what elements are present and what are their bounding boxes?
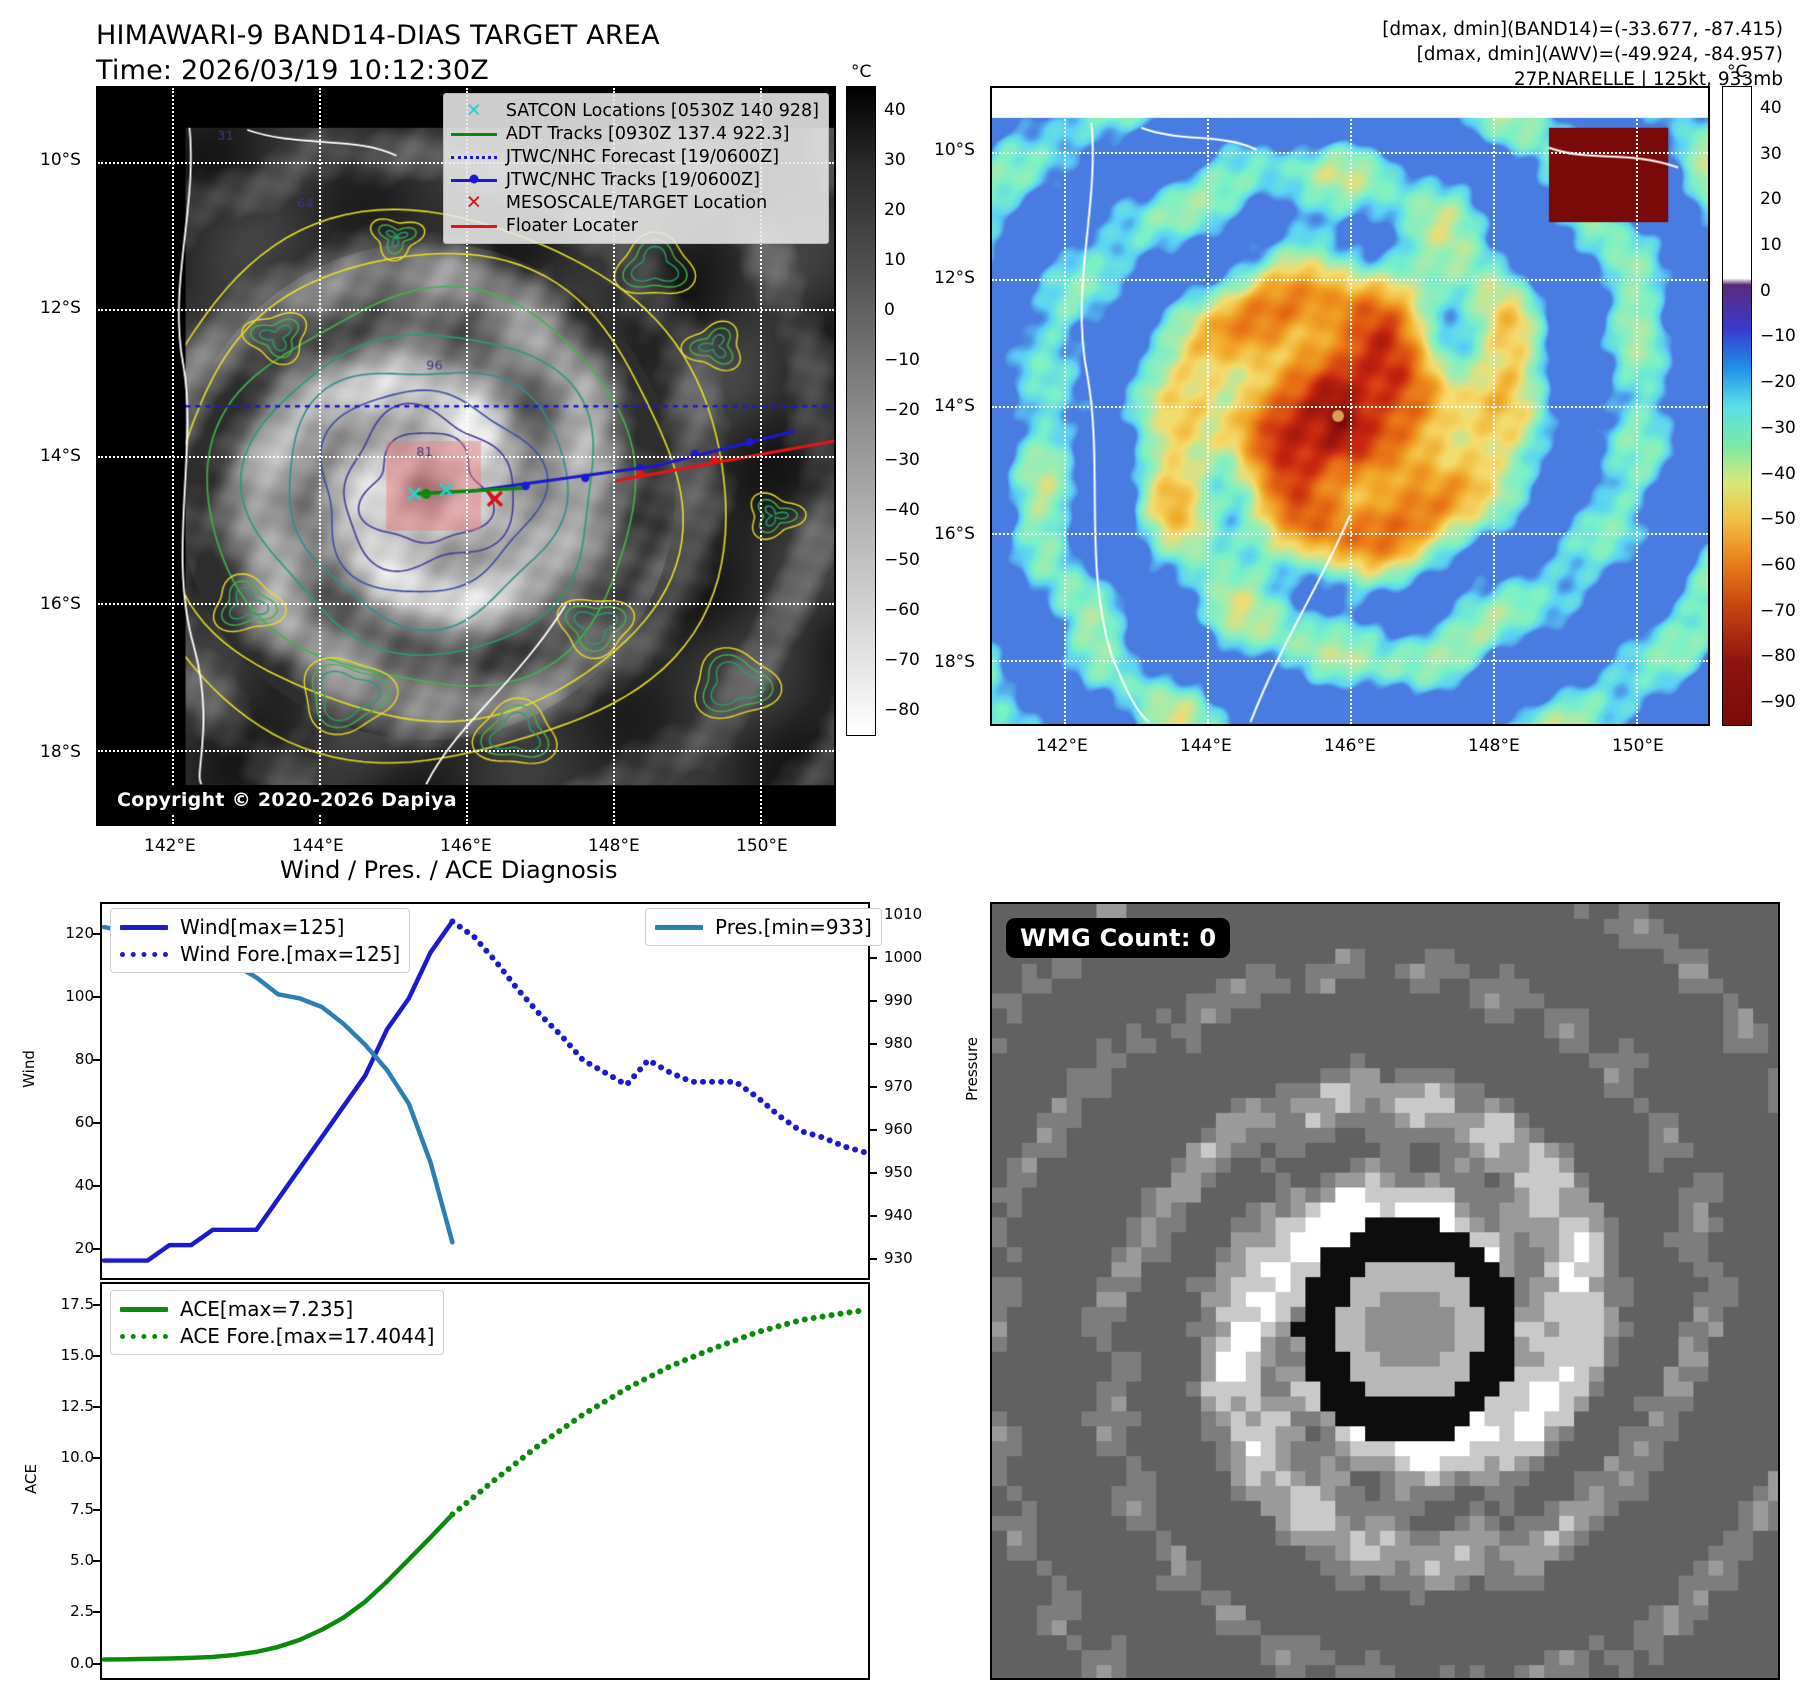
wind-tick-mark — [93, 1185, 102, 1187]
ace-tick-mark — [93, 1509, 102, 1511]
ace-tick-label: 10.0 — [48, 1448, 94, 1466]
pressure-tick-label: 990 — [884, 991, 913, 1009]
ace-legend-item: ACE Fore.[max=17.4044] — [118, 1322, 434, 1349]
wind-tick-label: 120 — [58, 924, 94, 942]
colorbar-tick-label: 0 — [1760, 281, 1771, 301]
colorbar-tick-label: −60 — [884, 600, 920, 620]
colorbar-tick-label: −30 — [884, 450, 920, 470]
colorbar-tick-label: −40 — [1760, 464, 1796, 484]
wind-legend-label: Wind[max=125] — [180, 915, 344, 939]
latitude-tick-label: 16°S — [40, 594, 81, 614]
colorbar-tick-label: −70 — [1760, 601, 1796, 621]
pressure-tick-mark — [868, 1258, 877, 1260]
wind-tick-label: 40 — [58, 1176, 94, 1194]
title-main: HIMAWARI-9 BAND14-DIAS TARGET AREA — [96, 18, 896, 53]
map-legend-label: Floater Locater — [506, 216, 638, 236]
dotted-line-marker-icon — [451, 156, 497, 159]
pressure-tick-mark — [868, 1000, 877, 1002]
copyright-text: Copyright © 2020-2026 Dapiya — [108, 785, 466, 815]
wmg-map[interactable]: WMG Count: 0 — [990, 902, 1780, 1680]
map-legend-label: SATCON Locations [0530Z 140 928] — [506, 101, 819, 121]
colorbar-tick-label: −80 — [884, 700, 920, 720]
map-legend-label: MESOSCALE/TARGET Location — [506, 193, 767, 213]
colorbar-tick-label: −70 — [884, 650, 920, 670]
colorbar-tick-label: −40 — [884, 500, 920, 520]
ace-tick-mark — [93, 1406, 102, 1408]
pressure-axis-label: Pressure — [963, 1037, 981, 1101]
ir-satellite-map[interactable]: Copyright © 2020-2026 Dapiya ✕SATCON Loc… — [96, 86, 836, 826]
pressure-tick-label: 1000 — [884, 948, 922, 966]
ir-colorbar — [846, 86, 876, 736]
latitude-tick-label: 16°S — [934, 524, 975, 544]
pressure-tick-mark — [868, 1215, 877, 1217]
longitude-tick-label: 148°E — [588, 836, 640, 856]
wind-axis-label: Wind — [20, 1050, 38, 1088]
colorbar-tick-label: −50 — [884, 550, 920, 570]
longitude-tick-label: 150°E — [1612, 736, 1664, 756]
longitude-tick-label: 144°E — [1180, 736, 1232, 756]
line-marker-icon — [120, 925, 168, 930]
awv-image-canvas — [992, 88, 1708, 724]
ace-axis-label: ACE — [22, 1464, 40, 1494]
map-legend-item: JTWC/NHC Forecast [19/0600Z] — [451, 145, 819, 168]
map-legend-item: JTWC/NHC Tracks [19/0600Z] — [451, 168, 819, 191]
map-legend-label: ADT Tracks [0930Z 137.4 922.3] — [506, 124, 790, 144]
colorbar-tick-label: −20 — [884, 400, 920, 420]
title-time: Time: 2026/03/19 10:12:30Z — [96, 53, 896, 88]
x-marker-icon: ✕ — [466, 193, 482, 212]
wmg-count-badge: WMG Count: 0 — [1006, 918, 1230, 958]
colorbar-tick-label: 40 — [884, 100, 906, 120]
x-marker-icon: ✕ — [466, 101, 482, 120]
legend-marker-dotted — [451, 149, 497, 165]
pressure-tick-mark — [868, 1129, 877, 1131]
longitude-tick-label: 146°E — [440, 836, 492, 856]
longitude-tick-label: 144°E — [292, 836, 344, 856]
legend-key — [118, 1329, 170, 1343]
line-marker-icon — [451, 225, 497, 228]
wind-tick-label: 20 — [58, 1239, 94, 1257]
legend-marker-line-dot — [451, 172, 497, 188]
wind-tick-label: 100 — [58, 987, 94, 1005]
pressure-tick-label: 1010 — [884, 905, 922, 923]
legend-key — [118, 1302, 170, 1316]
awv-colorbar — [1722, 86, 1752, 726]
wind-tick-mark — [93, 1248, 102, 1250]
metadata-block: [dmax, dmin](BAND14)=(-33.677, -87.415) … — [1382, 18, 1783, 92]
map-legend-item: Floater Locater — [451, 214, 819, 237]
ace-tick-label: 5.0 — [48, 1551, 94, 1569]
pressure-tick-mark — [868, 1043, 877, 1045]
pressure-legend-item: Pres.[min=933] — [653, 913, 872, 940]
map-legend-item: ADT Tracks [0930Z 137.4 922.3] — [451, 122, 819, 145]
colorbar-tick-label: −90 — [1760, 692, 1796, 712]
pressure-tick-label: 950 — [884, 1163, 913, 1181]
colorbar-tick-label: 40 — [1760, 98, 1782, 118]
series-line — [452, 921, 866, 1152]
colorbar-tick-label: −60 — [1760, 555, 1796, 575]
pressure-tick-mark — [868, 957, 877, 959]
pressure-tick-label: 960 — [884, 1120, 913, 1138]
colorbar-tick-label: −50 — [1760, 509, 1796, 529]
colorbar-tick-label: −10 — [884, 350, 920, 370]
ace-tick-mark — [93, 1457, 102, 1459]
dotted-line-marker-icon — [120, 1334, 168, 1339]
legend-key — [118, 947, 170, 961]
line-marker-icon — [120, 1307, 168, 1312]
wind-tick-mark — [93, 996, 102, 998]
dotted-line-marker-icon — [120, 952, 168, 957]
colorbar-tick-label: 20 — [884, 200, 906, 220]
ir-colorbar-unit: °C — [851, 62, 871, 82]
colorbar-tick-label: −20 — [1760, 372, 1796, 392]
map-legend-item: ✕MESOSCALE/TARGET Location — [451, 191, 819, 214]
ace-tick-mark — [93, 1560, 102, 1562]
wind-tick-mark — [93, 1059, 102, 1061]
wind-tick-mark — [93, 933, 102, 935]
pressure-tick-mark — [868, 1172, 877, 1174]
legend-key — [118, 920, 170, 934]
longitude-tick-label: 150°E — [736, 836, 788, 856]
map-legend-item: ✕SATCON Locations [0530Z 140 928] — [451, 99, 819, 122]
ace-tick-mark — [93, 1355, 102, 1357]
colorbar-tick-label: 10 — [1760, 235, 1782, 255]
line-marker-icon — [451, 133, 497, 136]
longitude-tick-label: 146°E — [1324, 736, 1376, 756]
series-line — [104, 1514, 452, 1659]
ace-legend-label: ACE Fore.[max=17.4044] — [180, 1324, 434, 1348]
wind-legend-label: Wind Fore.[max=125] — [180, 942, 400, 966]
colorbar-tick-label: 10 — [884, 250, 906, 270]
ace-tick-mark — [93, 1304, 102, 1306]
ace-legend-label: ACE[max=7.235] — [180, 1297, 353, 1321]
longitude-tick-label: 142°E — [144, 836, 196, 856]
series-line — [452, 1310, 866, 1514]
wind-tick-label: 80 — [58, 1050, 94, 1068]
longitude-tick-label: 148°E — [1468, 736, 1520, 756]
map-legend: ✕SATCON Locations [0530Z 140 928]ADT Tra… — [443, 93, 829, 244]
latitude-tick-label: 14°S — [934, 396, 975, 416]
longitude-tick-label: 142°E — [1036, 736, 1088, 756]
legend-marker-line — [451, 218, 497, 234]
line-marker-icon — [655, 925, 703, 930]
colorbar-tick-label: −80 — [1760, 646, 1796, 666]
ace-chart-legend: ACE[max=7.235]ACE Fore.[max=17.4044] — [110, 1290, 444, 1355]
ace-tick-label: 17.5 — [48, 1295, 94, 1313]
pressure-tick-label: 970 — [884, 1077, 913, 1095]
ace-tick-label: 0.0 — [48, 1654, 94, 1672]
latitude-tick-label: 10°S — [40, 150, 81, 170]
legend-marker-x: ✕ — [451, 195, 497, 211]
dmax-awv-text: [dmax, dmin](AWV)=(-49.924, -84.957) — [1382, 43, 1783, 68]
map-legend-label: JTWC/NHC Tracks [19/0600Z] — [506, 170, 760, 190]
latitude-tick-label: 12°S — [934, 268, 975, 288]
ace-tick-mark — [93, 1611, 102, 1613]
wmg-image-canvas — [992, 904, 1778, 1678]
wind-tick-label: 60 — [58, 1113, 94, 1131]
map-legend-label: JTWC/NHC Forecast [19/0600Z] — [506, 147, 779, 167]
dot-marker-icon — [469, 175, 478, 184]
wind-legend-item: Wind Fore.[max=125] — [118, 940, 400, 967]
wind-chart-legend: Wind[max=125]Wind Fore.[max=125] — [110, 908, 410, 973]
legend-key — [653, 920, 705, 934]
pressure-tick-mark — [868, 1086, 877, 1088]
pressure-tick-label: 980 — [884, 1034, 913, 1052]
ace-legend-item: ACE[max=7.235] — [118, 1295, 434, 1322]
legend-marker-x: ✕ — [451, 103, 497, 119]
colorbar-tick-label: 30 — [884, 150, 906, 170]
awv-colorbar-unit: °C — [1727, 62, 1747, 82]
pressure-tick-label: 930 — [884, 1249, 913, 1267]
awv-satellite-map[interactable] — [990, 86, 1710, 726]
colorbar-tick-label: 30 — [1760, 144, 1782, 164]
ace-tick-label: 7.5 — [48, 1500, 94, 1518]
colorbar-tick-label: 20 — [1760, 189, 1782, 209]
colorbar-tick-label: 0 — [884, 300, 895, 320]
pressure-legend-label: Pres.[min=933] — [715, 915, 872, 939]
ace-tick-mark — [93, 1663, 102, 1665]
pressure-chart-legend: Pres.[min=933] — [645, 908, 882, 946]
ace-tick-label: 2.5 — [48, 1602, 94, 1620]
wind-legend-item: Wind[max=125] — [118, 913, 400, 940]
colorbar-tick-label: −10 — [1760, 326, 1796, 346]
ace-tick-label: 12.5 — [48, 1397, 94, 1415]
diagnosis-title: Wind / Pres. / ACE Diagnosis — [280, 856, 618, 884]
wind-tick-mark — [93, 1122, 102, 1124]
latitude-tick-label: 18°S — [934, 652, 975, 672]
ace-tick-label: 15.0 — [48, 1346, 94, 1364]
pressure-tick-label: 940 — [884, 1206, 913, 1224]
page-title: HIMAWARI-9 BAND14-DIAS TARGET AREA Time:… — [96, 18, 896, 88]
latitude-tick-label: 10°S — [934, 140, 975, 160]
latitude-tick-label: 18°S — [40, 742, 81, 762]
legend-marker-line — [451, 126, 497, 142]
latitude-tick-label: 14°S — [40, 446, 81, 466]
colorbar-tick-label: −30 — [1760, 418, 1796, 438]
dmax-band14-text: [dmax, dmin](BAND14)=(-33.677, -87.415) — [1382, 18, 1783, 43]
latitude-tick-label: 12°S — [40, 298, 81, 318]
